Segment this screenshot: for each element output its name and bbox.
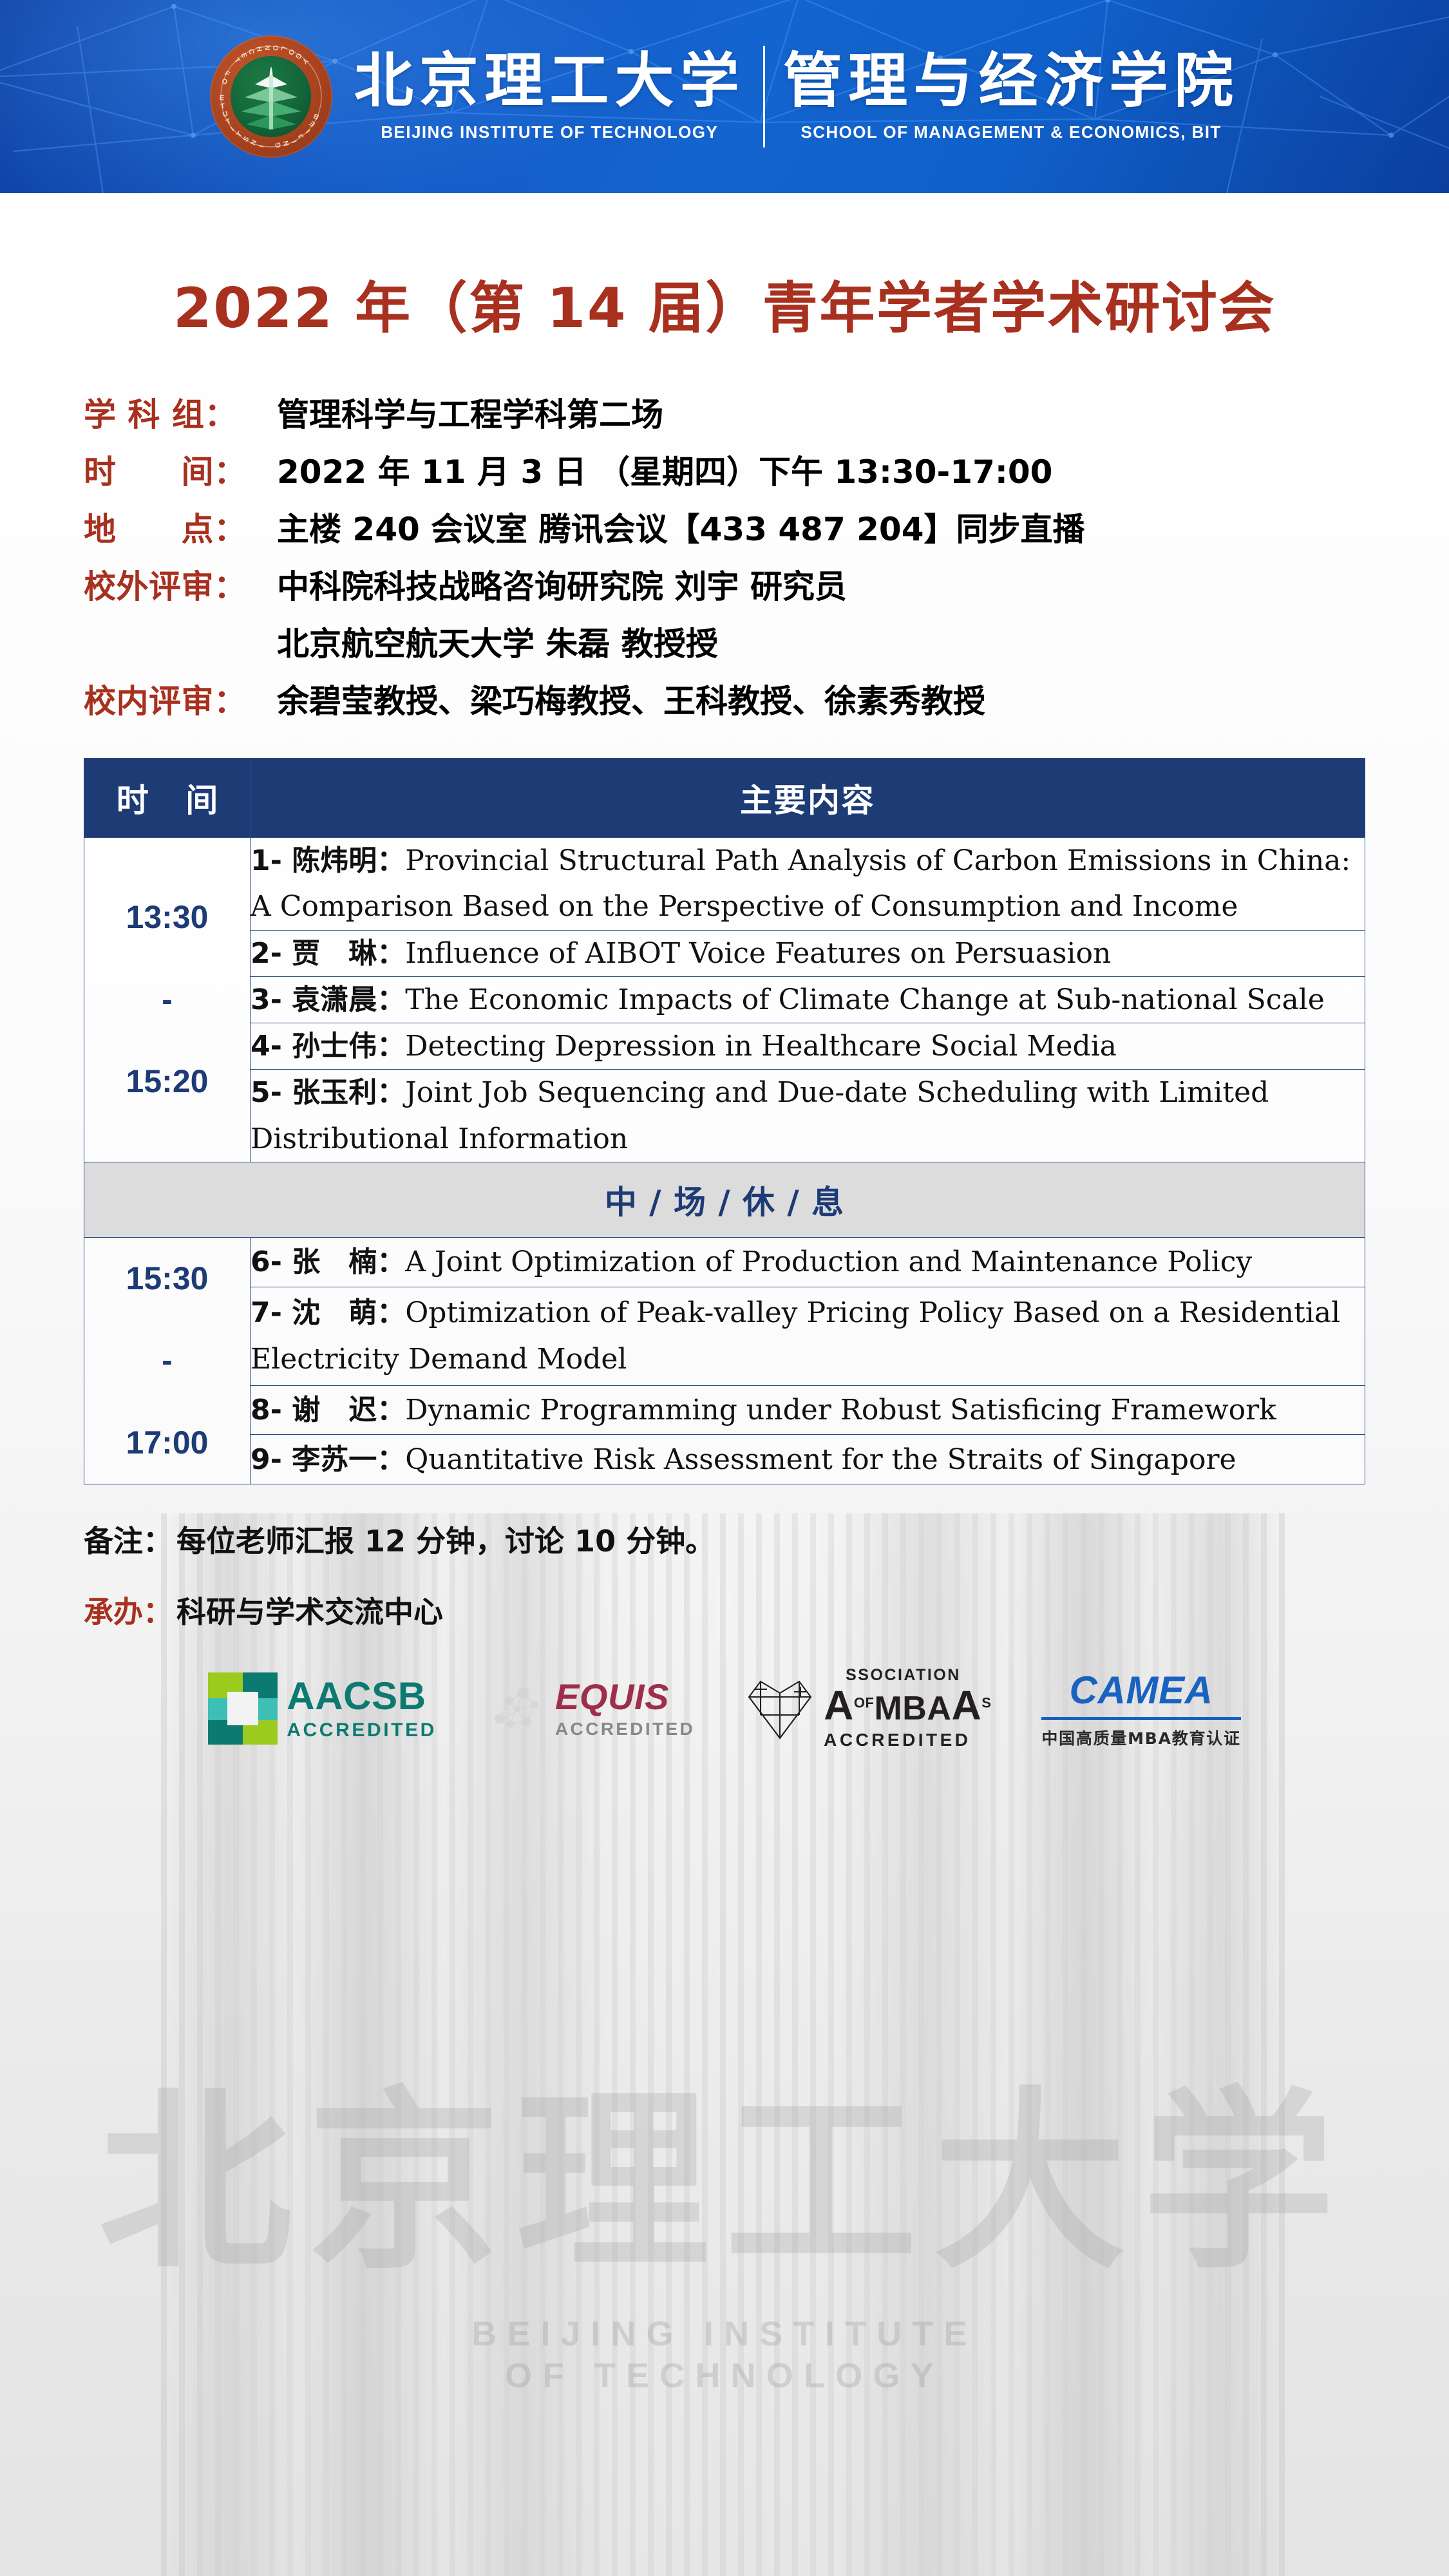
school-name-block: 管理与经济学院 SCHOOL OF MANAGEMENT & ECONOMICS… — [783, 52, 1239, 142]
info-row-subject: 学 科 组： 管理科学与工程学科第二场 — [84, 393, 1365, 437]
column-header-time: 时 间 — [84, 759, 251, 838]
talk-speaker: 3- 袁潇晨： — [251, 983, 405, 1016]
seal-ring-text: BEIJING INSTITUTE OF TECHNOLOGY — [210, 35, 332, 158]
equis-network-icon — [487, 1679, 546, 1738]
table-row: 8- 谢 迟：Dynamic Programming under Robust … — [84, 1385, 1365, 1435]
break-row: 中 / 场 / 休 / 息 — [84, 1162, 1365, 1237]
table-header-row: 时 间 主要内容 — [84, 759, 1365, 838]
talk-item: 1- 陈炜明：Provincial Structural Path Analys… — [251, 838, 1365, 931]
camea-logo: CAMEA 中国高质量MBA教育认证 — [1041, 1668, 1240, 1749]
talk-title: Optimization of Peak-valley Pricing Poli… — [251, 1296, 1340, 1375]
poster-content: 2022 年（第 14 届）青年学者学术研讨会 学 科 组： 管理科学与工程学科… — [0, 263, 1449, 1631]
camea-wordmark: CAMEA — [1070, 1668, 1213, 1712]
info-label: 学 科 组： — [84, 393, 277, 437]
note-value: 每位老师汇报 12 分钟，讨论 10 分钟。 — [176, 1518, 715, 1560]
university-name-block: 北京理工大学 BEIJING INSTITUTE OF TECHNOLOGY — [354, 52, 745, 142]
column-header-content: 主要内容 — [251, 759, 1365, 838]
equis-logo: EQUIS ACCREDITED — [487, 1679, 695, 1738]
talk-speaker: 8- 谢 迟： — [251, 1394, 405, 1426]
talk-title: Detecting Depression in Healthcare Socia… — [405, 1030, 1117, 1063]
event-info-block: 学 科 组： 管理科学与工程学科第二场 时 间： 2022 年 11 月 3 日… — [84, 393, 1365, 723]
watermark-text-cn: 北京理工大学 — [0, 2026, 1449, 2306]
banner-wordmark: 北京理工大学 BEIJING INSTITUTE OF TECHNOLOGY 管… — [354, 46, 1240, 147]
note-row-remark: 备注： 每位老师汇报 12 分钟，讨论 10 分钟。 — [84, 1518, 1365, 1560]
talk-title: Quantitative Risk Assessment for the Str… — [405, 1443, 1236, 1476]
university-name-cn: 北京理工大学 — [354, 52, 745, 111]
equis-text: EQUIS ACCREDITED — [555, 1679, 695, 1738]
time-start: 15:30 — [84, 1238, 250, 1320]
amba-text: SSOCIATION AOFMBAAS ACCREDITED — [824, 1667, 991, 1749]
school-name-en: SCHOOL OF MANAGEMENT & ECONOMICS, BIT — [800, 122, 1221, 142]
table-row: 13:30 - 15:20 1- 陈炜明：Provincial Structur… — [84, 838, 1365, 931]
amba-sup-s: S — [981, 1695, 991, 1711]
time-separator: - — [84, 959, 250, 1041]
talk-title: The Economic Impacts of Climate Change a… — [405, 983, 1325, 1016]
aacsb-mark-icon — [208, 1672, 278, 1745]
talk-title: A Joint Optimization of Production and M… — [405, 1245, 1252, 1278]
bit-seal-logo: BEIJING INSTITUTE OF TECHNOLOGY — [210, 35, 332, 158]
watermark-text-en2: OF TECHNOLOGY — [0, 2356, 1449, 2396]
talk-item: 8- 谢 迟：Dynamic Programming under Robust … — [251, 1385, 1365, 1435]
info-row-external-reviewer-2: 北京航空航天大学 朱磊 教授授 — [84, 623, 1365, 666]
info-value: 中科院科技战略咨询研究院 刘宇 研究员 — [277, 565, 1365, 609]
watermark-text-en1: BEIJING INSTITUTE — [0, 2314, 1449, 2354]
amba-sup-of: OF — [854, 1695, 875, 1711]
note-row-organizer: 承办： 科研与学术交流中心 — [84, 1589, 1365, 1631]
accreditation-logos: AACSB ACCREDITED EQUIS ACCREDITED — [0, 1667, 1449, 1784]
info-label: 校外评审： — [84, 565, 277, 609]
note-label: 承办： — [84, 1589, 173, 1631]
amba-wordmark: AOFMBAAS — [824, 1685, 991, 1726]
talk-speaker: 1- 陈炜明： — [251, 844, 405, 877]
talk-title: Influence of AIBOT Voice Features on Per… — [405, 937, 1111, 970]
amba-diamond-icon — [745, 1675, 815, 1742]
footer-notes: 备注： 每位老师汇报 12 分钟，讨论 10 分钟。 承办： 科研与学术交流中心 — [84, 1518, 1365, 1631]
talk-item: 7- 沈 萌：Optimization of Peak-valley Prici… — [251, 1287, 1365, 1385]
equis-subtitle: ACCREDITED — [555, 1720, 695, 1738]
aacsb-logo: AACSB ACCREDITED — [208, 1672, 437, 1745]
table-row: 15:30 - 17:00 6- 张 楠：A Joint Optimizatio… — [84, 1237, 1365, 1287]
note-value: 科研与学术交流中心 — [176, 1589, 443, 1631]
amba-final-a: A — [951, 1682, 981, 1728]
wordmark-divider — [763, 46, 765, 147]
schedule-table: 时 间 主要内容 13:30 - 15:20 1- 陈炜明：Provincial… — [84, 758, 1365, 1484]
equis-wordmark: EQUIS — [555, 1679, 695, 1715]
camea-subtitle: 中国高质量MBA教育认证 — [1041, 1726, 1240, 1749]
aacsb-subtitle: ACCREDITED — [287, 1721, 437, 1740]
break-label: 中 / 场 / 休 / 息 — [84, 1162, 1365, 1237]
info-row-time: 时 间： 2022 年 11 月 3 日 （星期四）下午 13:30-17:00 — [84, 451, 1365, 494]
time-end: 17:00 — [84, 1402, 250, 1484]
aacsb-wordmark: AACSB — [287, 1677, 437, 1716]
note-label: 备注： — [84, 1518, 173, 1560]
time-cell-session1: 13:30 - 15:20 — [84, 838, 251, 1162]
info-value: 2022 年 11 月 3 日 （星期四）下午 13:30-17:00 — [277, 451, 1365, 494]
talk-title: Dynamic Programming under Robust Satisfi… — [405, 1394, 1276, 1426]
time-end: 15:20 — [84, 1041, 250, 1123]
amba-mba: MBA — [874, 1690, 951, 1727]
info-label: 校内评审： — [84, 680, 277, 723]
talk-item: 9- 李苏一：Quantitative Risk Assessment for … — [251, 1435, 1365, 1484]
banner-content: BEIJING INSTITUTE OF TECHNOLOGY 北京理工大学 B… — [0, 0, 1449, 193]
info-value: 北京航空航天大学 朱磊 教授授 — [277, 623, 1365, 666]
time-cell-session2: 15:30 - 17:00 — [84, 1237, 251, 1484]
table-row: 5- 张玉利：Joint Job Sequencing and Due-date… — [84, 1070, 1365, 1162]
table-row: 4- 孙士伟：Detecting Depression in Healthcar… — [84, 1023, 1365, 1070]
camea-text: CAMEA 中国高质量MBA教育认证 — [1041, 1668, 1240, 1749]
talk-item: 2- 贾 琳：Influence of AIBOT Voice Features… — [251, 930, 1365, 976]
university-name-en: BEIJING INSTITUTE OF TECHNOLOGY — [381, 122, 718, 142]
talk-item: 4- 孙士伟：Detecting Depression in Healthcar… — [251, 1023, 1365, 1070]
talk-item: 3- 袁潇晨：The Economic Impacts of Climate C… — [251, 976, 1365, 1023]
table-row: 7- 沈 萌：Optimization of Peak-valley Prici… — [84, 1287, 1365, 1385]
table-row: 3- 袁潇晨：The Economic Impacts of Climate C… — [84, 976, 1365, 1023]
talk-title: Provincial Structural Path Analysis of C… — [251, 844, 1350, 923]
amba-subtitle: ACCREDITED — [824, 1731, 991, 1749]
amba-supertext: SSOCIATION — [846, 1667, 991, 1683]
time-start: 13:30 — [84, 876, 250, 959]
page-banner: BEIJING INSTITUTE OF TECHNOLOGY 北京理工大学 B… — [0, 0, 1449, 193]
talk-speaker: 7- 沈 萌： — [251, 1296, 405, 1329]
talk-item: 5- 张玉利：Joint Job Sequencing and Due-date… — [251, 1070, 1365, 1162]
amba-logo: SSOCIATION AOFMBAAS ACCREDITED — [745, 1667, 991, 1749]
amba-initial: A — [824, 1682, 854, 1728]
info-row-internal-reviewer: 校内评审： 余碧莹教授、梁巧梅教授、王科教授、徐素秀教授 — [84, 680, 1365, 723]
table-row: 2- 贾 琳：Influence of AIBOT Voice Features… — [84, 930, 1365, 976]
camea-rule — [1041, 1717, 1240, 1720]
talk-speaker: 6- 张 楠： — [251, 1245, 405, 1278]
talk-item: 6- 张 楠：A Joint Optimization of Productio… — [251, 1237, 1365, 1287]
info-row-external-reviewer: 校外评审： 中科院科技战略咨询研究院 刘宇 研究员 — [84, 565, 1365, 609]
amba-sup-association: SSOCIATION — [846, 1666, 961, 1684]
info-value: 主楼 240 会议室 腾讯会议【433 487 204】同步直播 — [277, 508, 1365, 551]
info-row-location: 地 点： 主楼 240 会议室 腾讯会议【433 487 204】同步直播 — [84, 508, 1365, 551]
school-name-cn: 管理与经济学院 — [783, 52, 1239, 111]
talk-speaker: 2- 贾 琳： — [251, 937, 405, 970]
aacsb-text: AACSB ACCREDITED — [287, 1677, 437, 1740]
talk-speaker: 9- 李苏一： — [251, 1443, 405, 1476]
info-value: 管理科学与工程学科第二场 — [277, 393, 1365, 437]
table-row: 9- 李苏一：Quantitative Risk Assessment for … — [84, 1435, 1365, 1484]
info-label: 时 间： — [84, 451, 277, 494]
page-title: 2022 年（第 14 届）青年学者学术研讨会 — [84, 263, 1365, 343]
talk-speaker: 4- 孙士伟： — [251, 1030, 405, 1063]
time-separator: - — [84, 1320, 250, 1402]
talk-speaker: 5- 张玉利： — [251, 1076, 405, 1109]
info-label: 地 点： — [84, 508, 277, 551]
info-value: 余碧莹教授、梁巧梅教授、王科教授、徐素秀教授 — [277, 680, 1365, 723]
